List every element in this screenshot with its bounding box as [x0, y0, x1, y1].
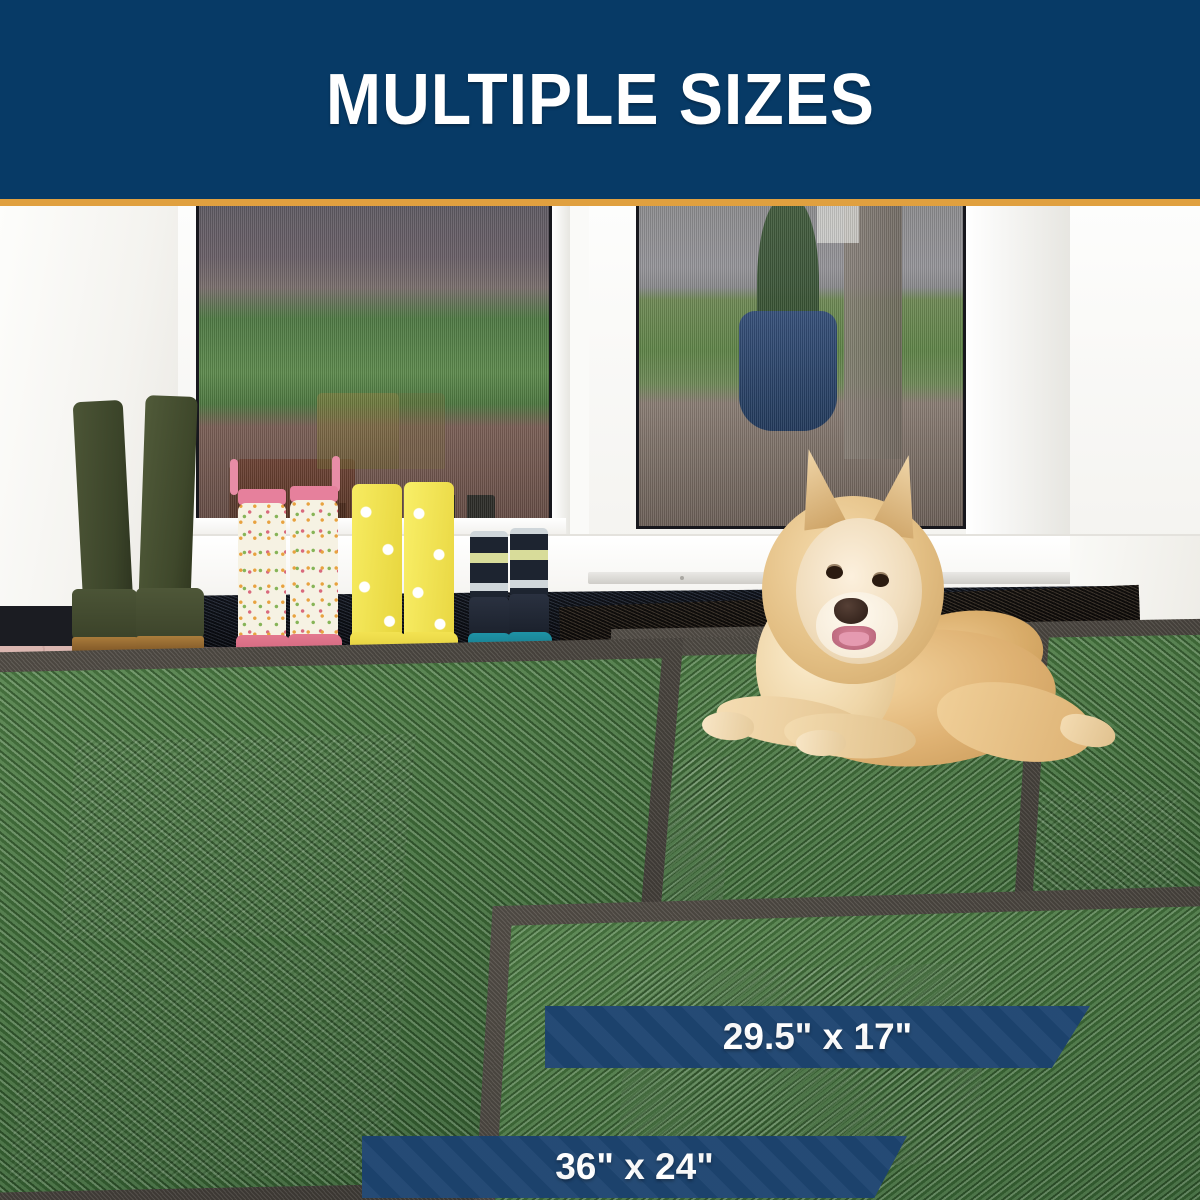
- boot-foot: [136, 588, 204, 642]
- dog-tongue: [839, 632, 869, 646]
- size-label-small-text: 29.5" x 17": [545, 1016, 1090, 1058]
- floral-rain-boot-right: [288, 456, 340, 661]
- boot-shaft: [138, 395, 197, 607]
- polka-dot-boot-left: [352, 484, 404, 662]
- wellington-boot-right: [136, 396, 200, 658]
- boot-foot: [72, 589, 138, 643]
- dog-front-paw: [796, 730, 846, 756]
- boot-shaft: [352, 484, 402, 640]
- boot-shaft: [470, 531, 508, 601]
- boot-shaft: [238, 503, 286, 643]
- header-banner: MULTIPLE SIZES: [0, 0, 1200, 199]
- gold-divider-rule: [0, 199, 1200, 206]
- mat-chevron-accent: [9, 944, 408, 1182]
- boot-shaft: [290, 500, 338, 642]
- floral-rain-boot-left: [236, 459, 288, 661]
- polka-dot-boot-right: [404, 482, 456, 662]
- sill-screw: [680, 576, 684, 580]
- mat-chevron-accent: [59, 734, 416, 942]
- size-label-small: 29.5" x 17": [545, 1006, 1090, 1068]
- page-title: MULTIPLE SIZES: [326, 59, 875, 141]
- dog-nose: [834, 598, 868, 624]
- dog-eye-left: [826, 566, 843, 579]
- size-label-medium-text: 36" x 24": [362, 1146, 907, 1188]
- boot-pull-tab: [230, 459, 238, 495]
- boot-foot: [509, 594, 549, 636]
- boot-shaft: [73, 400, 134, 608]
- product-image: MULTIPLE SIZES: [0, 0, 1200, 1200]
- dog: [700, 416, 1130, 736]
- dog-eye-right: [872, 574, 889, 587]
- scene-photo: 29.5" x 17" 36" x 24" 47" x 32": [0, 206, 1200, 1200]
- boot-shaft: [510, 528, 548, 598]
- boot-shaft: [404, 482, 454, 640]
- size-label-medium: 36" x 24": [362, 1136, 907, 1198]
- wellington-boot-left: [72, 401, 134, 659]
